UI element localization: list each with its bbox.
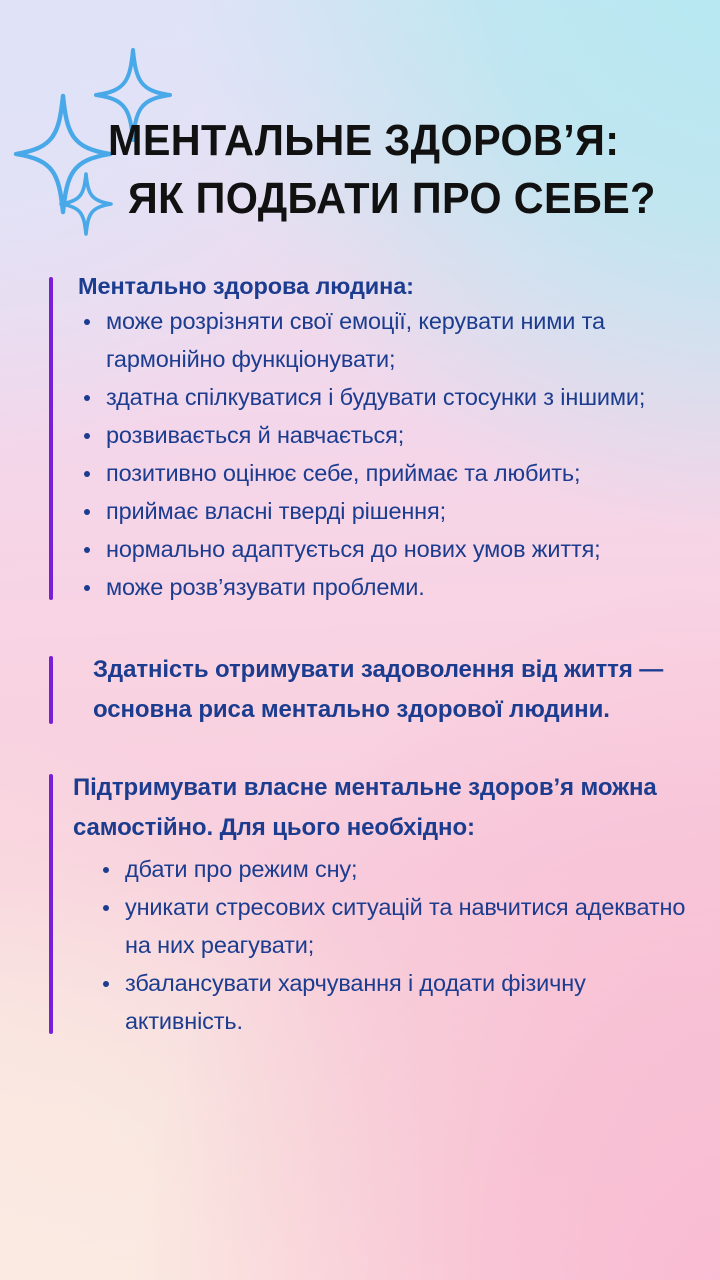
section-body: Підтримувати власне ментальне здоров’я м…	[49, 768, 720, 1040]
bullet-dot-icon	[84, 585, 90, 591]
bullet-list: може розрізняти свої емоції, керувати ни…	[78, 302, 706, 606]
list-item-label: приймає власні тверді рішення;	[106, 498, 446, 524]
section-heading: Здатність отримувати задоволення від жит…	[93, 650, 706, 730]
list-item: приймає власні тверді рішення;	[78, 492, 706, 530]
list-item-label: збалансувати харчування і додати фізичну…	[125, 970, 586, 1034]
bullet-dot-icon	[103, 905, 109, 911]
page-title-line-1: МЕНТАЛЬНЕ ЗДОРОВ’Я:	[108, 112, 672, 170]
section-body: Здатність отримувати задоволення від жит…	[49, 650, 720, 730]
list-item-label: може розрізняти свої емоції, керувати ни…	[106, 308, 605, 372]
list-item: може розрізняти свої емоції, керувати ни…	[78, 302, 706, 378]
list-item: дбати про режим сну;	[73, 850, 706, 888]
bullet-dot-icon	[103, 981, 109, 987]
bullet-dot-icon	[103, 867, 109, 873]
section-heading: Ментально здорова людина:	[78, 271, 706, 302]
page-title: МЕНТАЛЬНЕ ЗДОРОВ’Я: ЯК ПОДБАТИ ПРО СЕБЕ?	[108, 112, 708, 228]
list-item-label: нормально адаптується до нових умов житт…	[106, 536, 601, 562]
list-item: здатна спілкуватися і будувати стосунки …	[78, 378, 706, 416]
list-item: може розв’язувати проблеми.	[78, 568, 706, 606]
list-item: позитивно оцінює себе, приймає та любить…	[78, 454, 706, 492]
list-item-label: може розв’язувати проблеми.	[106, 574, 425, 600]
list-item-label: позитивно оцінює себе, приймає та любить…	[106, 460, 580, 486]
bullet-dot-icon	[84, 509, 90, 515]
bullet-dot-icon	[84, 471, 90, 477]
bullet-dot-icon	[84, 319, 90, 325]
section-heading: Підтримувати власне ментальне здоров’я м…	[73, 768, 706, 848]
section-accent-bar	[49, 277, 53, 600]
page-title-line-2: ЯК ПОДБАТИ ПРО СЕБЕ?	[128, 170, 673, 228]
sparkle-icon	[16, 96, 110, 212]
bullet-dot-icon	[84, 395, 90, 401]
section-self-support: Підтримувати власне ментальне здоров’я м…	[0, 768, 720, 1040]
section-mentally-healthy: Ментально здорова людина: може розрізнят…	[0, 271, 720, 606]
bullet-dot-icon	[84, 547, 90, 553]
list-item-label: розвивається й навчається;	[106, 422, 404, 448]
section-body: Ментально здорова людина: може розрізнят…	[49, 271, 720, 606]
list-item: розвивається й навчається;	[78, 416, 706, 454]
section-life-satisfaction: Здатність отримувати задоволення від жит…	[0, 650, 720, 730]
content-area: Ментально здорова людина: може розрізнят…	[0, 271, 720, 1040]
poster-canvas: МЕНТАЛЬНЕ ЗДОРОВ’Я: ЯК ПОДБАТИ ПРО СЕБЕ?…	[0, 0, 720, 1280]
list-item: уникати стресових ситуацій та навчитися …	[73, 888, 706, 964]
section-accent-bar	[49, 774, 53, 1034]
list-item-label: уникати стресових ситуацій та навчитися …	[125, 894, 685, 958]
list-item-label: здатна спілкуватися і будувати стосунки …	[106, 384, 645, 410]
section-accent-bar	[49, 656, 53, 724]
bullet-list: дбати про режим сну; уникати стресових с…	[73, 850, 706, 1040]
list-item: збалансувати харчування і додати фізичну…	[73, 964, 706, 1040]
list-item: нормально адаптується до нових умов житт…	[78, 530, 706, 568]
bullet-dot-icon	[84, 433, 90, 439]
list-item-label: дбати про режим сну;	[125, 856, 357, 882]
